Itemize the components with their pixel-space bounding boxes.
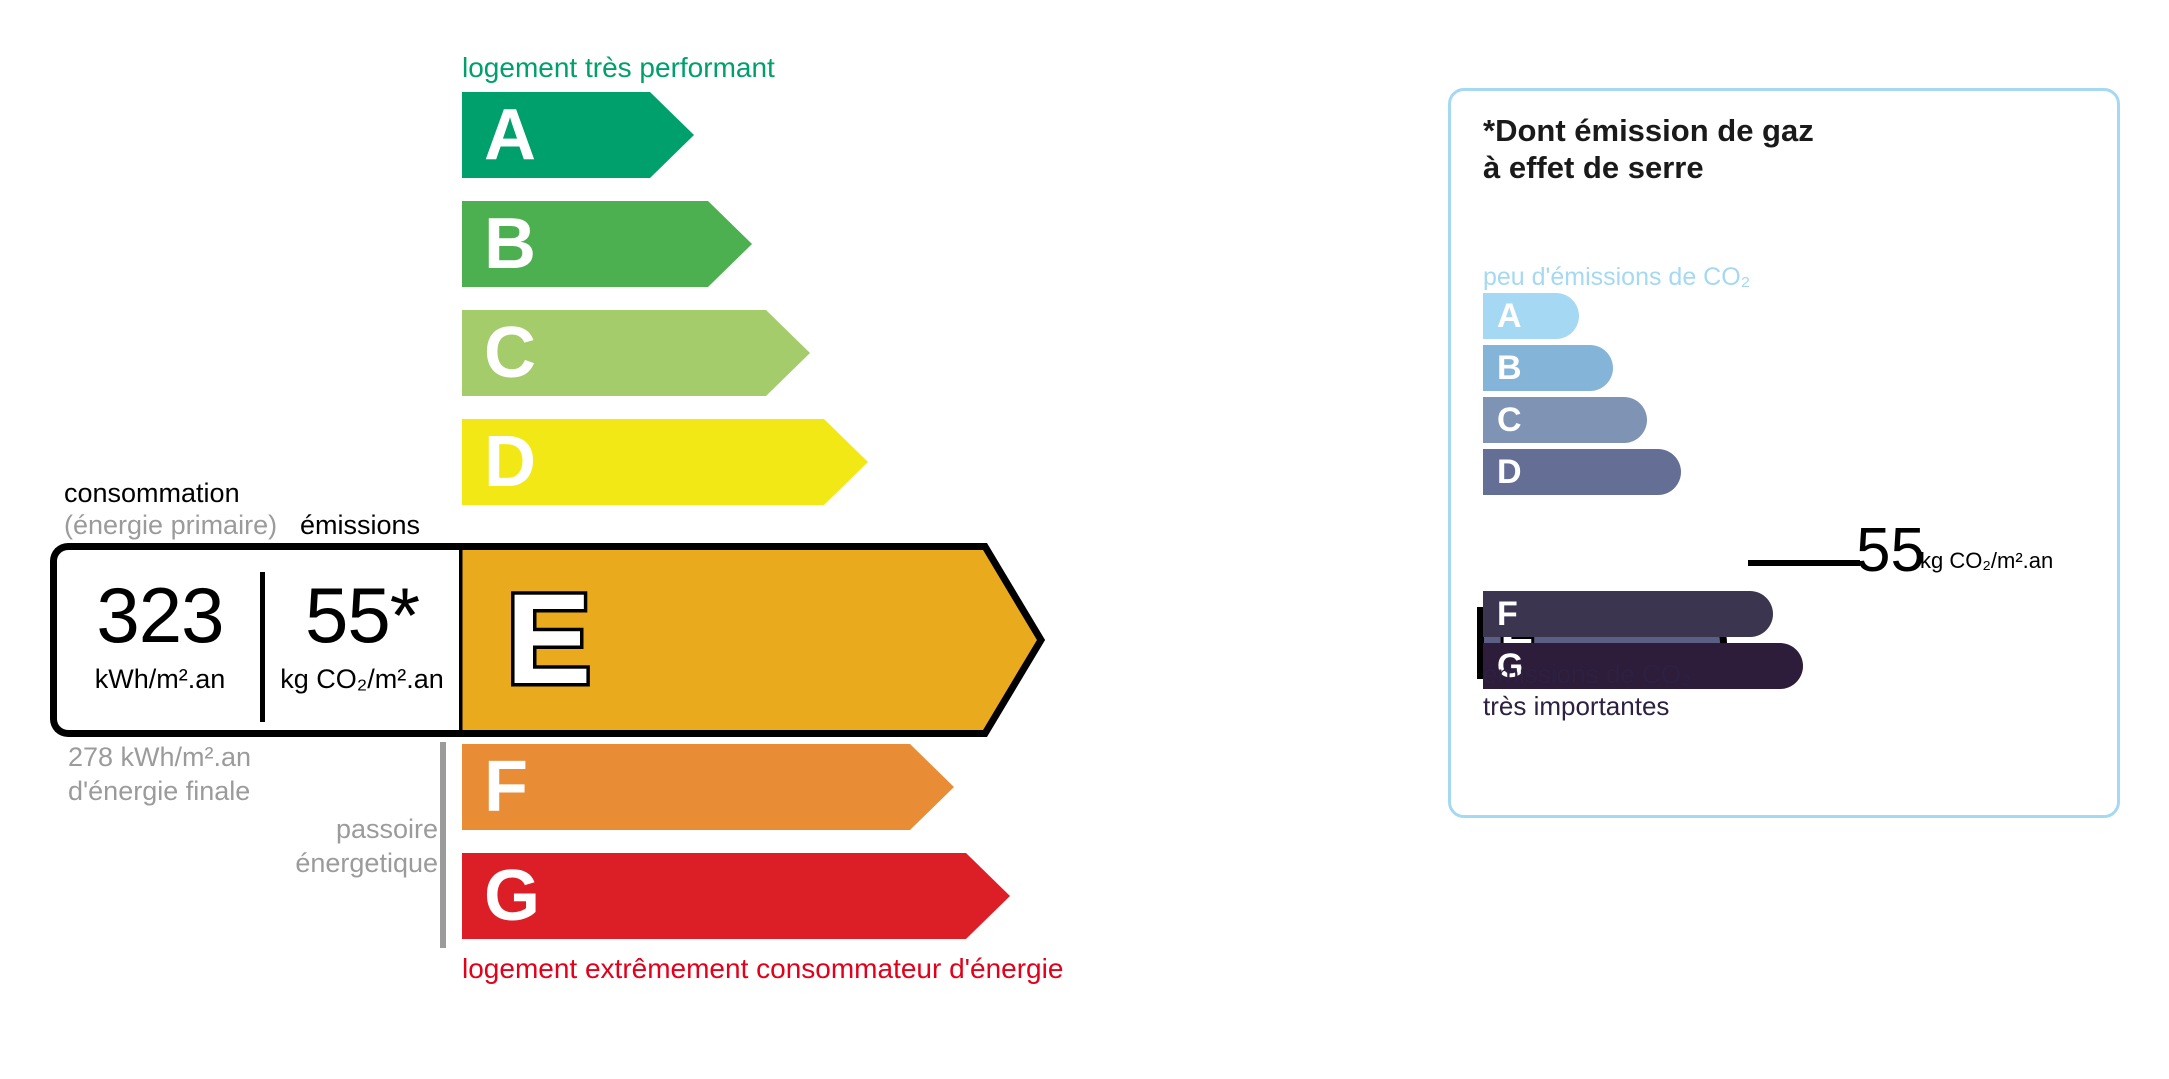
co2-bar-b: B	[1483, 345, 1613, 391]
co2-bar-b-letter: B	[1497, 351, 1522, 385]
energy-scale-bottom-caption: logement extrêmement consommateur d'éner…	[462, 953, 1063, 985]
energy-band-b-letter: B	[484, 208, 536, 280]
energy-performance-scale: logement très performant A B C D 323	[0, 0, 1320, 1079]
energy-band-d: D	[462, 419, 868, 505]
energy-band-a-letter: A	[484, 99, 536, 171]
co2-bottom-caption-line1: émissions de CO₂	[1483, 659, 1691, 691]
co2-panel-title-line2: à effet de serre	[1483, 150, 1814, 187]
emissions-header: émissions	[300, 510, 420, 542]
co2-bar-a: A	[1483, 293, 1579, 339]
passoire-energetique-note: passoire énergetique	[290, 812, 438, 880]
consumption-value: 323	[65, 576, 255, 654]
co2-bottom-caption: émissions de CO₂ très importantes	[1483, 659, 1691, 722]
value-box-divider	[260, 572, 265, 722]
co2-bar-a-letter: A	[1497, 299, 1522, 333]
final-energy-note-line1: 278 kWh/m².an	[68, 740, 251, 774]
passoire-note-line1: passoire	[290, 812, 438, 846]
co2-emissions-panel: *Dont émission de gaz à effet de serre p…	[1448, 88, 2120, 818]
energy-band-c: C	[462, 310, 810, 396]
energy-band-f-letter: F	[484, 751, 528, 823]
co2-bar-c: C	[1483, 397, 1647, 443]
co2-bar-c-letter: C	[1497, 403, 1522, 437]
consumption-header-main: consommation	[64, 478, 240, 508]
co2-callout-leader-line	[1748, 560, 1860, 566]
final-energy-note-line2: d'énergie finale	[68, 774, 251, 808]
energy-band-f: F	[462, 744, 954, 830]
energy-band-f-shape	[462, 744, 954, 830]
co2-bar-f: F	[1483, 591, 1773, 637]
energy-band-c-letter: C	[484, 317, 536, 389]
consumption-header: consommation (énergie primaire)	[64, 478, 277, 542]
value-box: 323 kWh/m².an 55* kg CO₂/m².an	[50, 543, 466, 737]
co2-bar-d: D	[1483, 449, 1681, 495]
energy-band-g-shape	[462, 853, 1010, 939]
dpe-diagram: logement très performant A B C D 323	[0, 0, 2169, 1079]
emissions-value: 55*	[267, 576, 457, 654]
passoire-note-line2: énergetique	[290, 846, 438, 880]
co2-panel-title: *Dont émission de gaz à effet de serre	[1483, 113, 1814, 186]
energy-band-g-letter: G	[484, 860, 540, 932]
energy-band-a: A	[462, 92, 694, 178]
co2-top-caption: peu d'émissions de CO₂	[1483, 263, 1750, 292]
consumption-unit: kWh/m².an	[65, 664, 255, 695]
energy-band-g: G	[462, 853, 1010, 939]
co2-bar-d-letter: D	[1497, 455, 1522, 489]
energy-band-e-arrow: E	[459, 543, 1045, 737]
co2-bottom-caption-line2: très importantes	[1483, 691, 1691, 723]
energy-scale-top-caption: logement très performant	[462, 52, 775, 84]
co2-callout-unit: kg CO₂/m².an	[1920, 548, 2053, 574]
final-energy-note: 278 kWh/m².an d'énergie finale	[68, 740, 251, 808]
emissions-unit: kg CO₂/m².an	[267, 664, 457, 695]
consumption-cell: 323 kWh/m².an	[65, 576, 255, 695]
passoire-divider-rule	[440, 742, 446, 948]
energy-band-b: B	[462, 201, 752, 287]
emissions-cell: 55* kg CO₂/m².an	[267, 576, 457, 695]
co2-panel-title-line1: *Dont émission de gaz	[1483, 113, 1814, 150]
consumption-header-sub: (énergie primaire)	[64, 510, 277, 542]
co2-callout-value: 55	[1856, 520, 1925, 582]
co2-bar-f-letter: F	[1497, 597, 1518, 631]
energy-band-d-letter: D	[484, 426, 536, 498]
energy-band-e-letter: E	[506, 576, 591, 704]
